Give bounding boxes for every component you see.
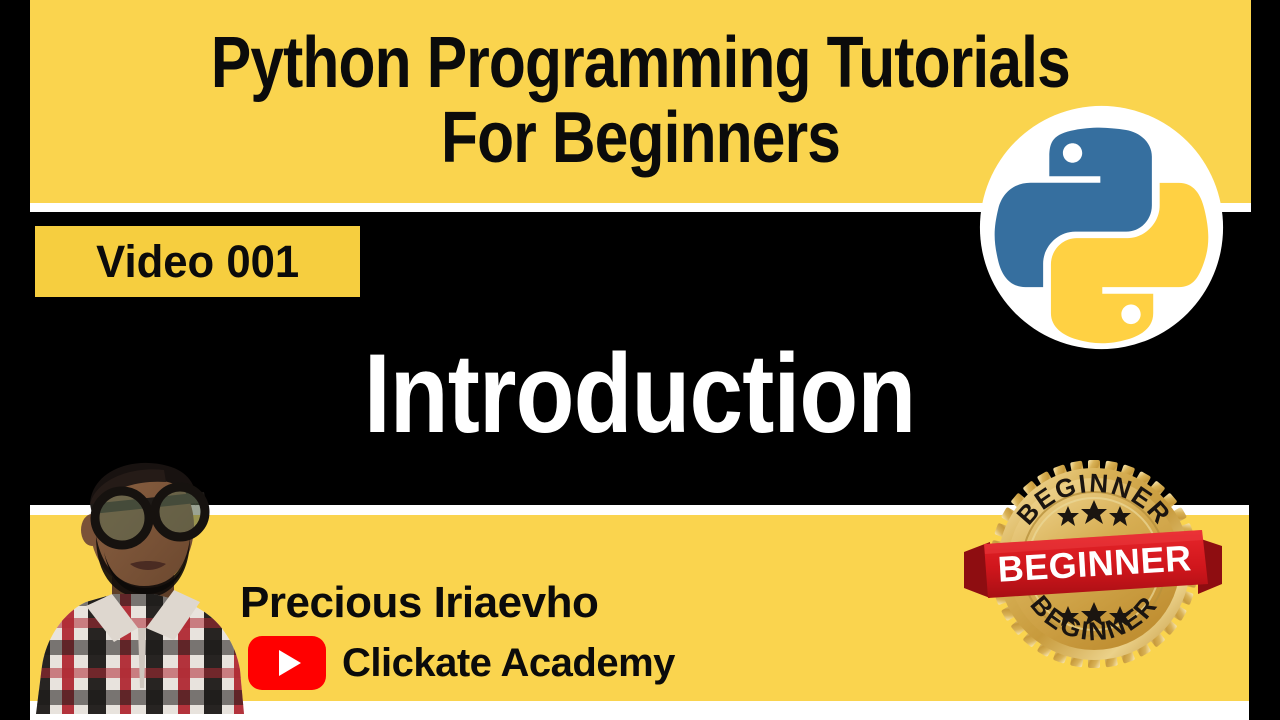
python-logo-icon [978,104,1225,351]
channel-row: Clickate Academy [248,636,675,690]
presenter-photo [34,452,250,714]
beginner-badge: BEGINNER BEGINNER [962,452,1224,677]
video-number-label: Video 001 [96,236,299,288]
youtube-icon [248,636,326,690]
topic-title: Introduction [0,338,1280,450]
presenter-name: Precious Iriaevho [240,578,598,628]
channel-name: Clickate Academy [342,641,675,686]
video-thumbnail-canvas: Python Programming Tutorials For Beginne… [0,0,1280,720]
page-title-line-1: Python Programming Tutorials [211,28,1070,99]
video-number-badge: Video 001 [35,226,360,297]
topic-title-text: Introduction [364,338,915,450]
page-title-line-2: For Beginners [441,103,840,174]
